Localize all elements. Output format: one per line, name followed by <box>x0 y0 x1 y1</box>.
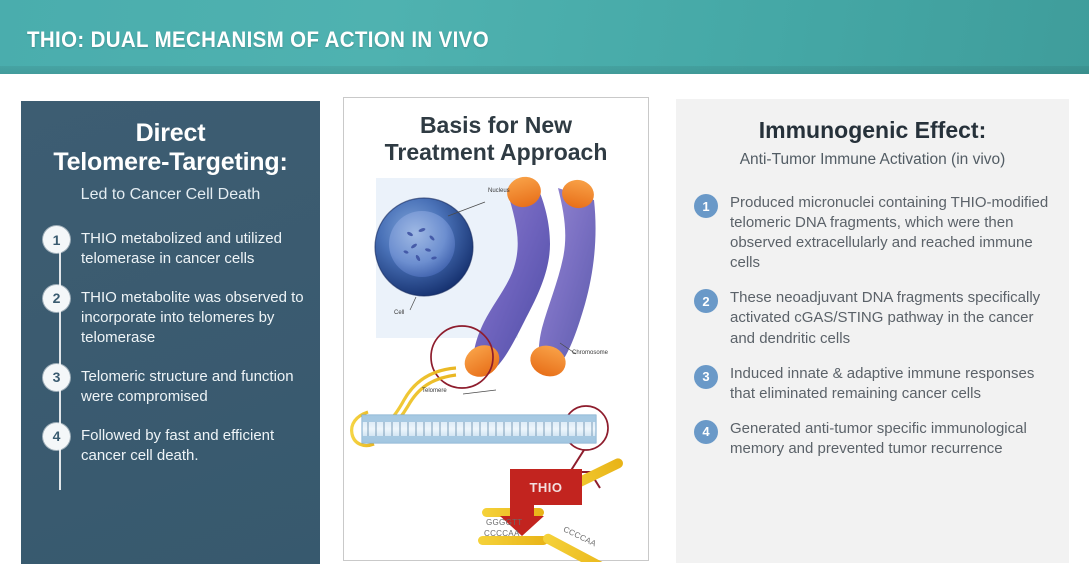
effect-badge-3: 3 <box>694 365 718 389</box>
right-steps-list: 1 Produced micronuclei containing THIO-m… <box>694 193 1051 459</box>
right-panel-title: Immunogenic Effect: <box>694 117 1051 144</box>
list-item: 4 Followed by fast and efficient cancer … <box>43 423 304 466</box>
list-item: 4 Generated anti-tumor specific immunolo… <box>694 419 1051 459</box>
telomere-mechanism-diagram: Nucleus Cell Telomere Chromosome THIO GG… <box>344 172 650 562</box>
step-badge-1: 1 <box>43 226 70 253</box>
effect-text-3: Induced innate & adaptive immune respons… <box>730 364 1051 404</box>
left-panel-title: Direct Telomere-Targeting: <box>37 119 304 177</box>
effect-text-2: These neoadjuvant DNA fragments specific… <box>730 288 1051 348</box>
cell-with-nucleus <box>375 198 473 296</box>
effect-text-1: Produced micronuclei containing THIO-mod… <box>730 193 1051 273</box>
effect-badge-2: 2 <box>694 289 718 313</box>
step-badge-4: 4 <box>43 423 70 450</box>
panel-direct-telomere-targeting: Direct Telomere-Targeting: Led to Cancer… <box>21 101 320 564</box>
label-telomere: Telomere <box>422 388 447 394</box>
list-item: 2 THIO metabolite was observed to incorp… <box>43 285 304 348</box>
list-item: 1 THIO metabolized and utilized telomera… <box>43 226 304 269</box>
list-item: 2 These neoadjuvant DNA fragments specif… <box>694 288 1051 348</box>
middle-panel-title-line1: Basis for New <box>360 112 632 139</box>
label-cell: Cell <box>394 310 404 316</box>
step-text-3: Telomeric structure and function were co… <box>81 364 304 407</box>
panel-basis-for-new-treatment: Basis for New Treatment Approach <box>343 97 649 561</box>
step-text-4: Followed by fast and efficient cancer ce… <box>81 423 304 466</box>
left-panel-title-line1: Direct <box>37 119 304 148</box>
effect-text-4: Generated anti-tumor specific immunologi… <box>730 419 1051 459</box>
panel-immunogenic-effect: Immunogenic Effect: Anti-Tumor Immune Ac… <box>676 99 1069 563</box>
list-item: 3 Induced innate & adaptive immune respo… <box>694 364 1051 404</box>
effect-badge-1: 1 <box>694 194 718 218</box>
step-text-2: THIO metabolite was observed to incorpor… <box>81 285 304 348</box>
panels-row: Direct Telomere-Targeting: Led to Cancer… <box>0 74 1089 577</box>
diagram-svg <box>344 172 650 562</box>
page-title: THIO: DUAL MECHANISM OF ACTION IN VIVO <box>27 27 489 53</box>
step-text-1: THIO metabolized and utilized telomerase… <box>81 226 304 269</box>
left-panel-title-line2: Telomere-Targeting: <box>37 148 304 177</box>
step-badge-2: 2 <box>43 285 70 312</box>
list-item: 1 Produced micronuclei containing THIO-m… <box>694 193 1051 273</box>
left-steps-list: 1 THIO metabolized and utilized telomera… <box>37 226 304 465</box>
list-item: 3 Telomeric structure and function were … <box>43 364 304 407</box>
sequence-ccccaa-1: CCCCAA <box>484 529 520 538</box>
label-nucleus: Nucleus <box>488 188 510 194</box>
header-bottom-shadow <box>0 66 1089 74</box>
label-chromosome: Chromosome <box>572 350 608 356</box>
thio-drug-label: THIO <box>510 469 582 505</box>
middle-panel-title-line2: Treatment Approach <box>360 139 632 166</box>
step-badge-3: 3 <box>43 364 70 391</box>
left-panel-subtitle: Led to Cancer Cell Death <box>37 186 304 204</box>
dna-ladder <box>362 415 596 443</box>
middle-panel-title: Basis for New Treatment Approach <box>344 98 648 166</box>
effect-badge-4: 4 <box>694 420 718 444</box>
sequence-ggggtt: GGGGTT <box>486 518 522 527</box>
right-panel-subtitle: Anti-Tumor Immune Activation (in vivo) <box>694 151 1051 169</box>
page-header: THIO: DUAL MECHANISM OF ACTION IN VIVO <box>0 0 1089 74</box>
